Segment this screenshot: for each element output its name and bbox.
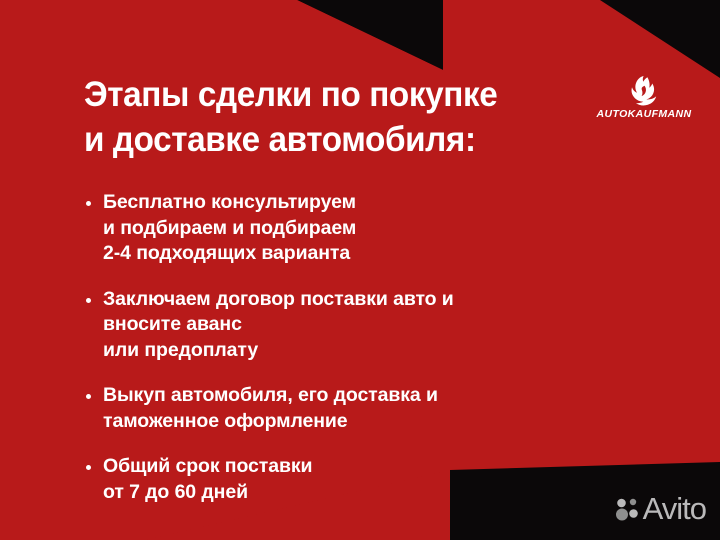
list-item-text: Выкуп автомобиля, его доставка и таможен… bbox=[103, 383, 646, 434]
bullet-dot-icon bbox=[86, 394, 91, 399]
content-layer: Этапы сделки по покупке и доставке автом… bbox=[0, 0, 720, 540]
list-item: Выкуп автомобиля, его доставка и таможен… bbox=[86, 383, 646, 434]
steps-list: Бесплатно консультируем и подбираем и по… bbox=[86, 190, 646, 505]
list-item-line: Общий срок поставки bbox=[103, 454, 646, 480]
bullet-dot-icon bbox=[86, 465, 91, 470]
list-item-line: таможенное оформление bbox=[103, 409, 646, 435]
avito-wordmark: Avito bbox=[643, 493, 706, 524]
list-item: Бесплатно консультируем и подбираем и по… bbox=[86, 190, 646, 267]
list-item-line: от 7 до 60 дней bbox=[103, 480, 646, 506]
bullet-dot-icon bbox=[86, 201, 91, 206]
promo-banner: Этапы сделки по покупке и доставке автом… bbox=[0, 0, 720, 540]
flame-swoosh-icon bbox=[627, 76, 661, 106]
list-item-line: Заключаем договор поставки авто и bbox=[103, 287, 646, 313]
avito-dots-icon bbox=[614, 496, 640, 522]
bullet-dot-icon bbox=[86, 298, 91, 303]
avito-watermark: Avito bbox=[614, 493, 706, 524]
list-item-text: Общий срок поставки от 7 до 60 дней bbox=[103, 454, 646, 505]
list-item-text: Бесплатно консультируем и подбираем и по… bbox=[103, 190, 646, 267]
list-item-line: Бесплатно консультируем bbox=[103, 190, 646, 216]
list-item-line: или предоплату bbox=[103, 338, 646, 364]
brand-wordmark: AUTOKAUFMANN bbox=[592, 108, 696, 120]
brand-logo: AUTOKAUFMANN bbox=[592, 76, 696, 120]
list-item-line: и подбираем и подбираем bbox=[103, 216, 646, 242]
list-item-line: 2-4 подходящих варианта bbox=[103, 241, 646, 267]
list-item: Общий срок поставки от 7 до 60 дней bbox=[86, 454, 646, 505]
list-item-line: Выкуп автомобиля, его доставка и bbox=[103, 383, 646, 409]
page-title: Этапы сделки по покупке и доставке автом… bbox=[84, 72, 604, 162]
list-item-text: Заключаем договор поставки авто и вносит… bbox=[103, 287, 646, 364]
heading-line-1: Этапы сделки по покупке bbox=[84, 72, 578, 117]
list-item-line: вносите аванс bbox=[103, 312, 646, 338]
heading-line-2: и доставке автомобиля: bbox=[84, 117, 578, 162]
list-item: Заключаем договор поставки авто и вносит… bbox=[86, 287, 646, 364]
